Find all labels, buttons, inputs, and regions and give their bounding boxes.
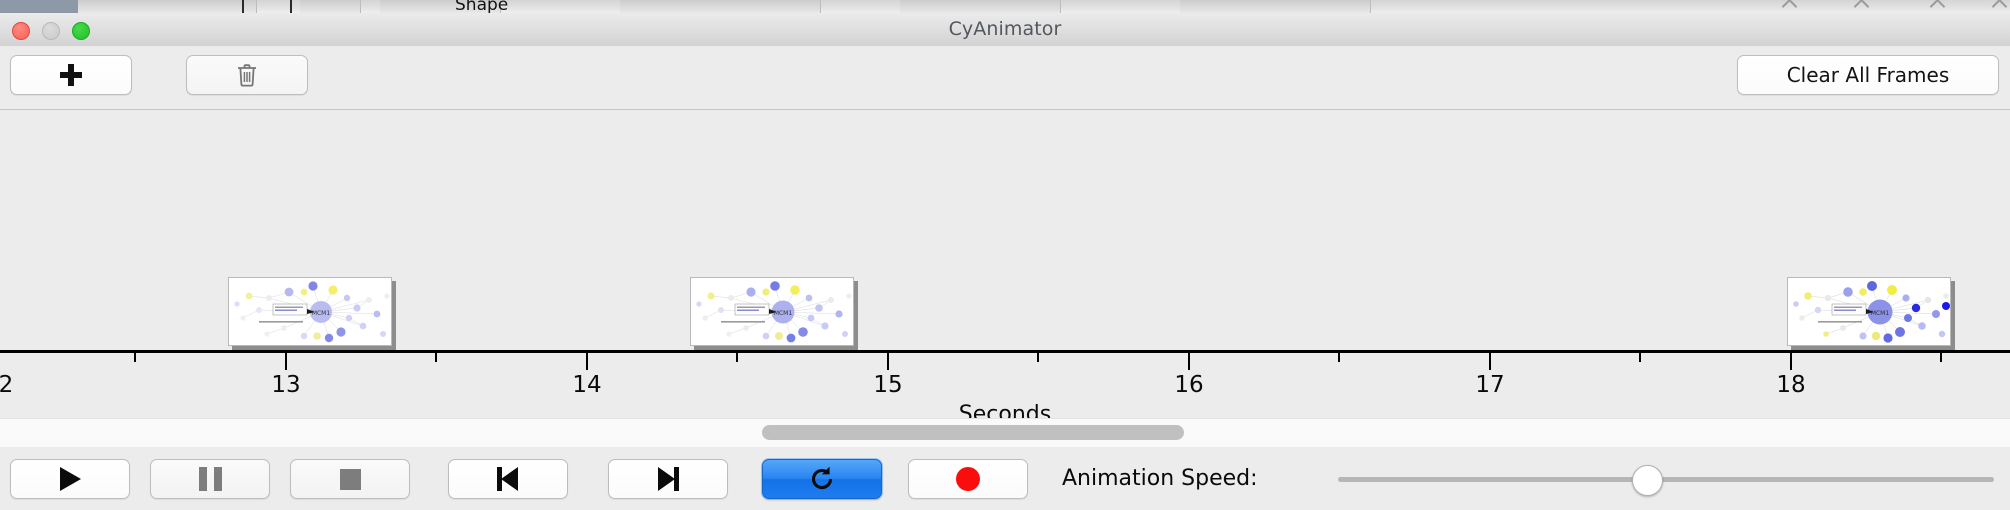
title-bar[interactable]: CyAnimator: [0, 13, 2010, 47]
axis-major-tick: [586, 353, 588, 370]
axis-minor-tick: [1338, 353, 1340, 362]
axis-minor-tick: [1639, 353, 1641, 362]
skip-to-start-button[interactable]: [448, 459, 568, 499]
axis-major-tick: [1489, 353, 1491, 370]
axis-major-tick: [285, 353, 287, 370]
background-window-dark: [0, 0, 78, 13]
axis-tick-label: 15: [873, 372, 902, 398]
window-title: CyAnimator: [0, 13, 2010, 46]
stop-button[interactable]: [290, 459, 410, 499]
clear-all-frames-button[interactable]: Clear All Frames: [1737, 55, 1999, 95]
axis-minor-tick: [1037, 353, 1039, 362]
timeline-scrollbar[interactable]: [0, 418, 2010, 448]
background-tick: [290, 0, 292, 13]
pause-button[interactable]: [150, 459, 270, 499]
cyanimator-window: Shape CyAnimator Clear All Frames: [0, 0, 2010, 510]
delete-frame-button[interactable]: [186, 55, 308, 95]
axis-major-tick: [1790, 353, 1792, 370]
background-window-chip: [78, 0, 131, 13]
play-icon: [60, 467, 81, 491]
animation-speed-slider[interactable]: [1338, 477, 1994, 482]
stop-icon: [340, 469, 361, 490]
axis-minor-tick: [134, 353, 136, 362]
background-window-chip: [300, 0, 361, 13]
axis-minor-tick: [1940, 353, 1942, 362]
axis-minor-tick: [435, 353, 437, 362]
background-resize-arrow-icon: [1782, 0, 1798, 13]
network-graph-icon: MCM1: [691, 278, 853, 345]
thumbnail-image: MCM1: [228, 277, 392, 346]
transport-bar: Animation Speed:: [0, 447, 2010, 510]
background-window-chip: [130, 0, 191, 13]
add-frame-button[interactable]: [10, 55, 132, 95]
clear-all-frames-label: Clear All Frames: [1787, 63, 1950, 87]
svg-text:MCM1: MCM1: [774, 310, 793, 317]
axis-title: Seconds: [0, 402, 2010, 418]
background-resize-arrow-icon: [1992, 0, 2008, 13]
network-graph-icon: MCM1: [229, 278, 391, 345]
timeline-frame-thumbnail[interactable]: MCM1: [228, 277, 396, 350]
axis-tick-label: 17: [1475, 372, 1504, 398]
scrollbar-thumb[interactable]: [762, 425, 1184, 440]
background-resize-arrow-icon: [1854, 0, 1870, 13]
background-resize-arrow-icon: [1930, 0, 1946, 13]
background-tick: [242, 0, 244, 13]
axis-major-tick: [1188, 353, 1190, 370]
network-graph-icon: MCM1: [1788, 278, 1950, 345]
background-windows-strip: Shape: [0, 0, 2010, 13]
toolbar: Clear All Frames: [0, 46, 2010, 110]
svg-text:MCM1: MCM1: [1871, 310, 1890, 317]
timeline-panel[interactable]: MCM1: [0, 110, 2010, 418]
timeline-frame-thumbnail[interactable]: MCM1: [690, 277, 858, 350]
record-icon: [956, 467, 980, 491]
svg-text:MCM1: MCM1: [312, 310, 331, 317]
axis-major-tick: [887, 353, 889, 370]
record-button[interactable]: [908, 459, 1028, 499]
timeline-axis-line: [0, 350, 2010, 353]
axis-tick-label: 13: [271, 372, 300, 398]
background-window-chip: [900, 0, 1061, 13]
thumbnail-image: MCM1: [690, 277, 854, 346]
play-button[interactable]: [10, 459, 130, 499]
axis-tick-label: 18: [1776, 372, 1805, 398]
background-window-title: Shape: [455, 0, 508, 13]
animation-speed-slider-thumb[interactable]: [1632, 465, 1663, 496]
thumbnail-image: MCM1: [1787, 277, 1951, 346]
animation-speed-label: Animation Speed:: [1062, 459, 1258, 499]
plus-icon: [60, 64, 82, 86]
pause-icon: [199, 467, 222, 491]
axis-tick-label: 14: [572, 372, 601, 398]
background-window-chip: [190, 0, 257, 13]
skip-back-icon: [497, 467, 519, 491]
skip-forward-icon: [657, 467, 679, 491]
axis-tick-label: 16: [1174, 372, 1203, 398]
skip-to-end-button[interactable]: [608, 459, 728, 499]
loop-button[interactable]: [762, 459, 882, 499]
background-window-chip: [1180, 0, 1371, 13]
timeline-frame-thumbnail[interactable]: MCM1: [1787, 277, 1955, 350]
loop-icon: [808, 465, 836, 493]
axis-minor-tick: [736, 353, 738, 362]
background-window-chip: [620, 0, 821, 13]
axis-tick-label: 2: [0, 372, 13, 398]
trash-icon: [236, 63, 258, 87]
